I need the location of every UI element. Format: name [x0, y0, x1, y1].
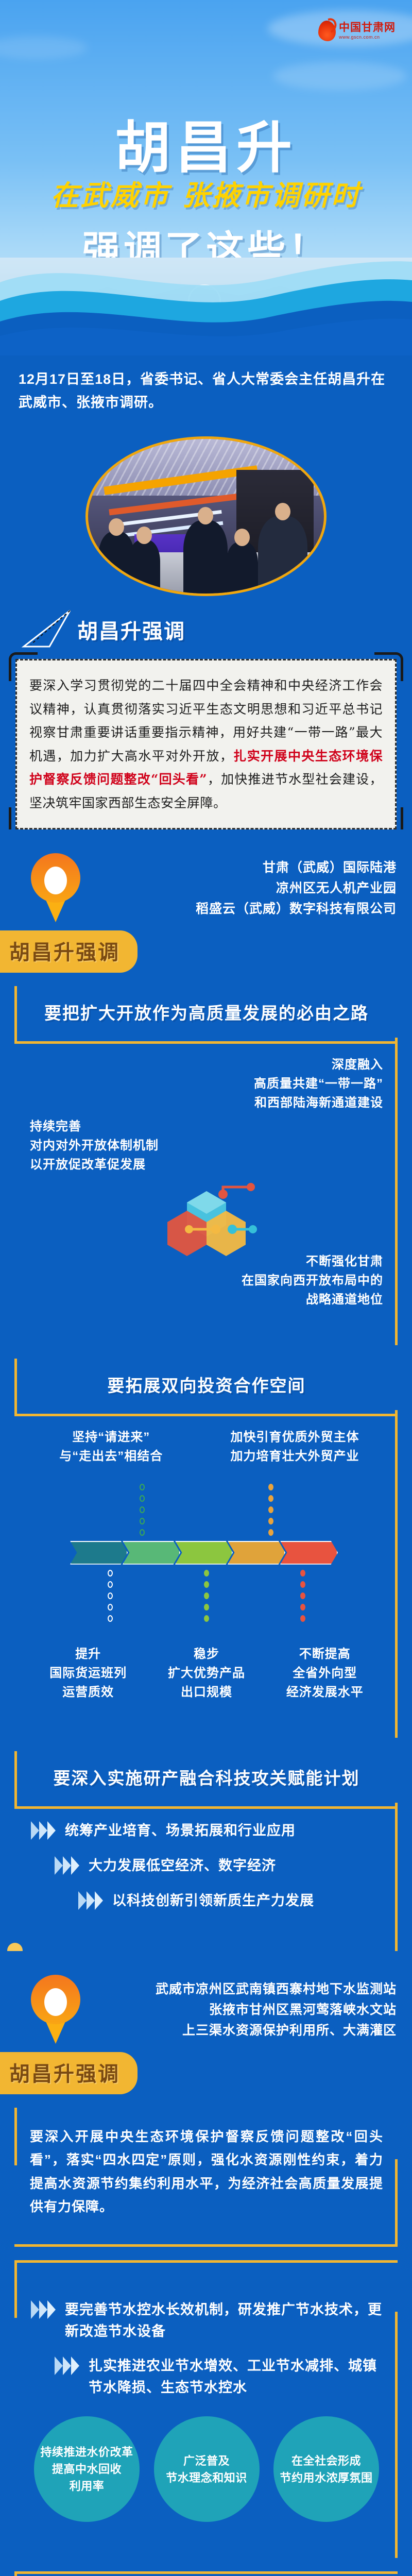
- double-chevron-icon: [54, 1855, 81, 1876]
- bullet-text: 以科技创新引领新质生产力发展: [112, 1890, 314, 1912]
- site-url: www.gscn.com.cn: [339, 35, 396, 40]
- circle-item: 广泛普及 节水理念和知识: [154, 2416, 260, 2522]
- chevron-step: [175, 1541, 233, 1565]
- block-title: 要深入实施研产融合科技攻关赋能计划: [30, 1765, 383, 1789]
- circle-item: 持续推进水价改革 提高中水回收 利用率: [34, 2416, 140, 2522]
- double-chevron-icon: [30, 1820, 58, 1841]
- site-name: 中国甘肃网: [339, 22, 396, 33]
- pipeline-label: 不断提高 全省外向型 经济发展水平: [267, 1645, 383, 1702]
- double-chevron-icon: [30, 2299, 58, 2320]
- hero-title: 胡昌升: [0, 103, 412, 183]
- block-water-intro: 要深入开展中央生态环境保护督察反馈问题整改“回头看”，落实“四水四定”原则，强化…: [14, 2108, 398, 2247]
- section-1: 胡昌升强调 要深入学习贯彻党的二十届四中全会精神和中央经济工作会议精神，认真贯彻…: [0, 612, 412, 829]
- visit-photo: [0, 436, 412, 596]
- dot-column: [108, 1570, 113, 1622]
- section-2-heading: 胡昌升强调: [0, 930, 138, 973]
- bullet-text: 要完善节水控水长效机制，研发推广节水技术，更新改造节水设备: [65, 2299, 383, 2343]
- block-sci-tech-plan: 要深入实施研产融合科技攻关赋能计划 统筹产业培育、场景拓展和行业应用 大力发展低…: [14, 1751, 398, 1951]
- chevron-step: [228, 1541, 285, 1565]
- double-chevron-icon: [77, 1890, 105, 1911]
- chevron-pipeline: [30, 1541, 383, 1565]
- block-two-way-investment: 要拓展双向投资合作空间 坚持“请进来” 与“走出去”相结合 加快引育优质外贸主体…: [14, 1359, 398, 1738]
- hero-subtitle: 在武威市 张掖市调研时: [0, 173, 412, 213]
- block-water-closing: 要有序推进水资源监测感知夯基提能，完善取用水监测计量体系，强化取用水全环节监管，…: [14, 2571, 398, 2576]
- infographic-page: 中国甘肃网 www.gscn.com.cn 胡昌升 在武威市 张掖市调研时 强调…: [0, 0, 412, 2576]
- chevron-step: [280, 1541, 338, 1565]
- hero-banner: 中国甘肃网 www.gscn.com.cn 胡昌升 在武威市 张掖市调研时 强调…: [0, 0, 412, 355]
- bullet-item: 要完善节水控水长效机制，研发推广节水技术，更新改造节水设备: [30, 2299, 383, 2343]
- map-pin-icon: [31, 853, 80, 923]
- block-text-right: 深度融入 高质量共建“一带一路” 和西部陆海新通道建设: [198, 1055, 383, 1113]
- location-name: 甘肃（武威）国际陆港: [92, 857, 397, 878]
- bullet-item: 统筹产业培育、场景拓展和行业应用: [30, 1820, 383, 1842]
- bullet-item: 以科技创新引领新质生产力发展: [30, 1890, 383, 1912]
- lead-paragraph: 12月17日至18日，省委书记、省人大常委会主任胡昌升在武威市、张掖市调研。: [0, 365, 412, 414]
- chevron-step: [70, 1541, 128, 1565]
- block-text-top-right: 加快引育优质外贸主体 加力培育壮大外贸产业: [207, 1428, 383, 1466]
- dot-column: [268, 1484, 273, 1536]
- cloud-decoration: [0, 36, 88, 59]
- block-text-top-left: 坚持“请进来” 与“走出去”相结合: [30, 1428, 193, 1466]
- location-name: 上三渠水资源保护利用所、大满灌区: [92, 2020, 397, 2041]
- location-name: 稻盛云（武威）数字科技有限公司: [92, 899, 397, 919]
- section-1-heading: 胡昌升强调: [77, 612, 185, 645]
- section-3-intro: 要深入开展中央生态环境保护督察反馈问题整改“回头看”，落实“四水四定”原则，强化…: [30, 2125, 383, 2219]
- lead-section: 12月17日至18日，省委书记、省人大常委会主任胡昌升在武威市、张掖市调研。: [0, 355, 412, 419]
- location-name: 凉州区无人机产业园: [92, 878, 397, 899]
- block-title: 要拓展双向投资合作空间: [30, 1372, 383, 1397]
- section-3-heading: 胡昌升强调: [0, 2052, 138, 2094]
- circle-item: 在全社会形成 节约用水浓厚氛围: [273, 2416, 379, 2522]
- location-name: 武威市凉州区武南镇西寨村地下水监测站: [92, 1979, 397, 1999]
- pipeline-label: 提升 国际货运班列 运营质效: [30, 1645, 146, 1702]
- block-open-development: 要把扩大开放作为高质量发展的必由之路 持续完善 对内对外开放体制机制 以开放促改…: [14, 986, 398, 1345]
- pointer-arrow-icon: [0, 612, 77, 650]
- bullet-text: 大力发展低空经济、数字经济: [89, 1855, 276, 1877]
- wave-ribbon-decoration: [0, 235, 412, 355]
- dot-column: [300, 1570, 305, 1622]
- flame-icon: [318, 21, 336, 41]
- cloud-decoration: [273, 62, 407, 90]
- pipeline-label: 稳步 扩大优势产品 出口规模: [148, 1645, 265, 1702]
- block-text-left: 持续完善 对内对外开放体制机制 以开放促改革促发展: [30, 1055, 184, 1175]
- dot-column: [204, 1570, 209, 1622]
- map-pin-icon: [31, 1975, 80, 2045]
- block-title: 要把扩大开放作为高质量发展的必由之路: [30, 999, 383, 1024]
- dot-column: [140, 1484, 145, 1536]
- location-name: 张掖市甘州区黑河莺落峡水文站: [92, 1999, 397, 2020]
- quote-card-1: 要深入学习贯彻党的二十届四中全会精神和中央经济工作会议精神，认真贯彻落实习近平生…: [15, 659, 397, 829]
- double-chevron-icon: [54, 2355, 81, 2376]
- location-block-2: 武威市凉州区武南镇西寨村地下水监测站 张掖市甘州区黑河莺落峡水文站 上三渠水资源…: [0, 1951, 412, 2094]
- bullet-item: 扎实推进农业节水增效、工业节水减排、城镇节水降损、生态节水控水: [30, 2355, 383, 2399]
- water-circles-group: 持续推进水价改革 提高中水回收 利用率 广泛普及 节水理念和知识 在全社会形成 …: [30, 2416, 383, 2527]
- bullet-item: 大力发展低空经济、数字经济: [30, 1855, 383, 1877]
- bullet-text: 统筹产业培育、场景拓展和行业应用: [65, 1820, 296, 1842]
- bullet-text: 扎实推进农业节水增效、工业节水减排、城镇节水降损、生态节水控水: [89, 2355, 383, 2399]
- site-logo: 中国甘肃网 www.gscn.com.cn: [318, 21, 396, 41]
- chevron-step: [123, 1541, 180, 1565]
- location-block-1: 甘肃（武威）国际陆港 凉州区无人机产业园 稻盛云（武威）数字科技有限公司 胡昌升…: [0, 829, 412, 973]
- block-water-measures: 要完善节水控水长效机制，研发推广节水技术，更新改造节水设备 扎实推进农业节水增效…: [14, 2260, 398, 2558]
